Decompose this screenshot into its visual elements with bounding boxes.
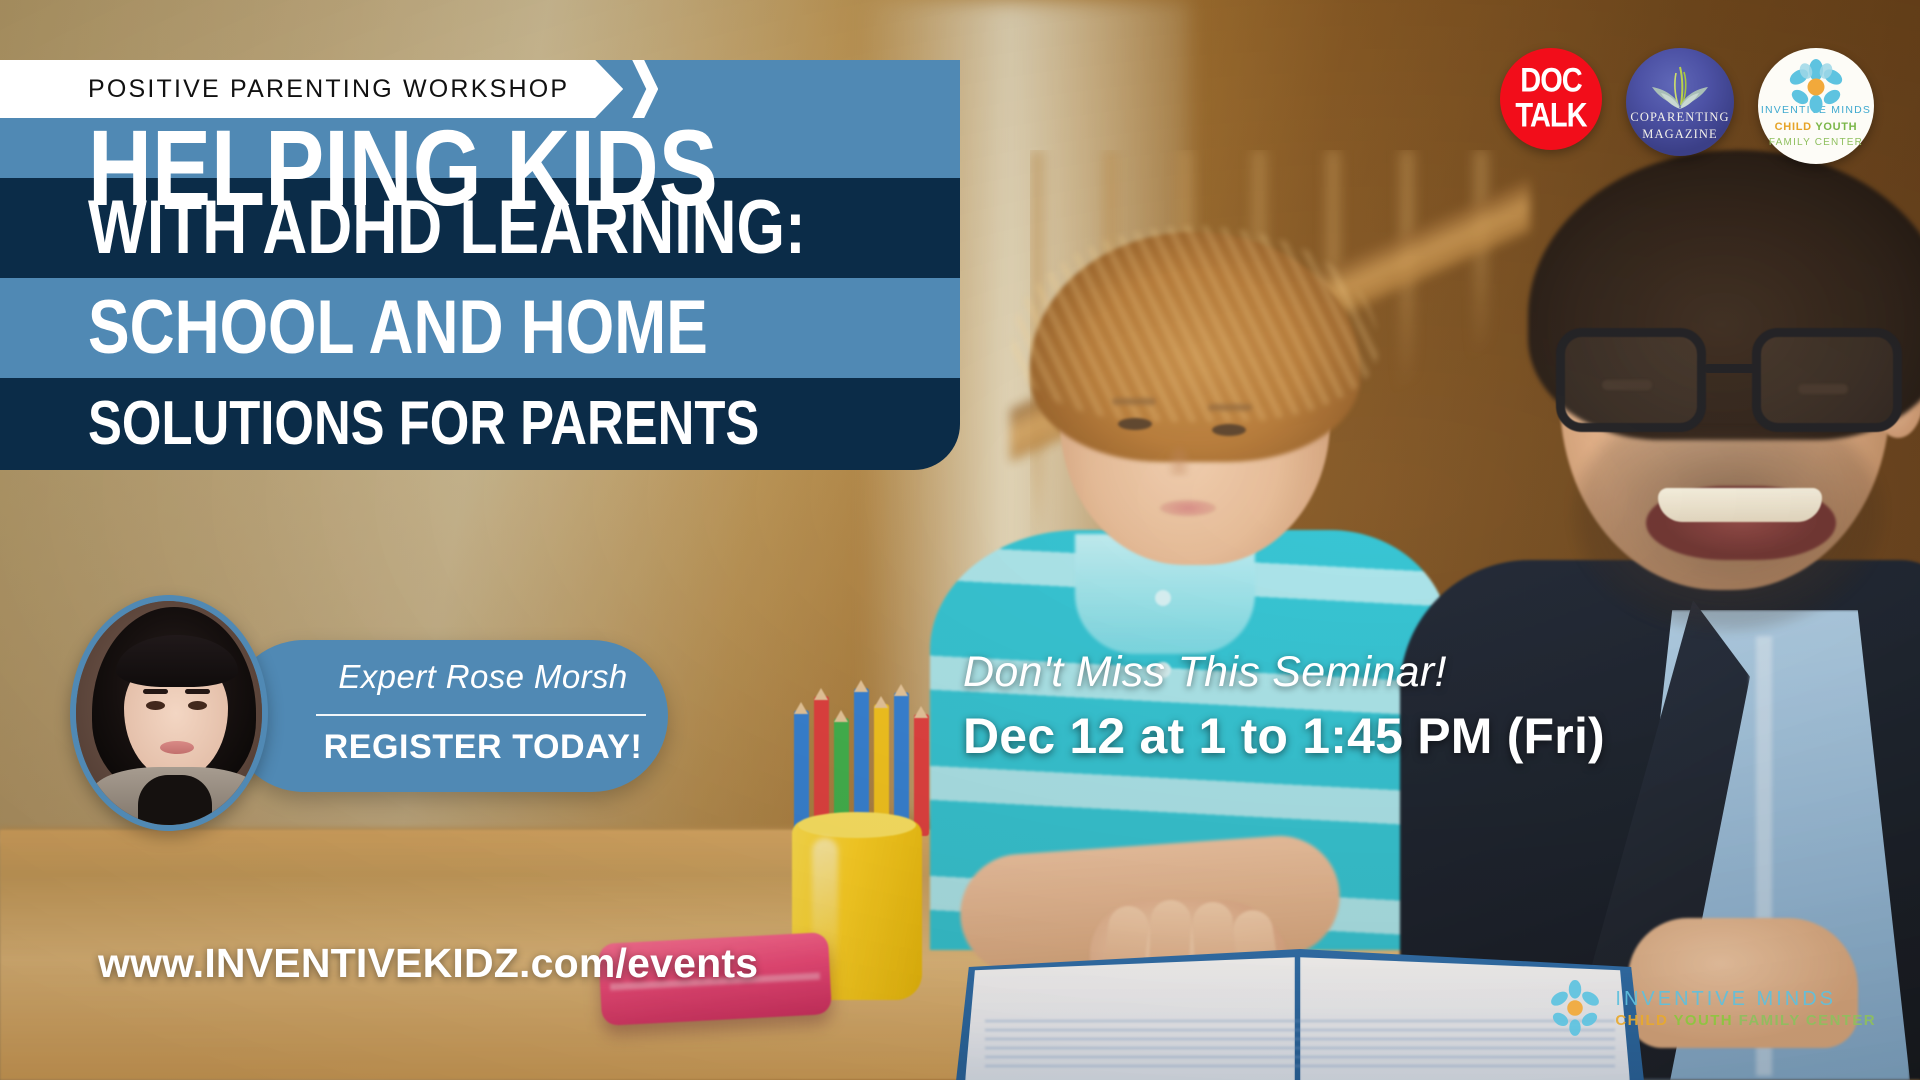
- avatar-lips: [160, 741, 194, 754]
- watermark-youth: YOUTH: [1674, 1012, 1734, 1029]
- avatar-eyebrow: [185, 689, 210, 694]
- watermark-child: CHILD: [1615, 1012, 1668, 1029]
- avatar-eye: [188, 701, 207, 710]
- doc-talk-line2: TALK: [1515, 100, 1586, 133]
- title-line-4-text: SOLUTIONS FOR PARENTS: [88, 393, 759, 455]
- eyebrow-ribbon: POSITIVE PARENTING WORKSHOP: [0, 60, 658, 118]
- seminar-info: Don't Miss This Seminar! Dec 12 at 1 to …: [963, 648, 1605, 765]
- inventive-minds-logo: INVENTIVE MINDS CHILD YOUTH FAMILY CENTE…: [1758, 48, 1874, 164]
- chevron-right-icon: [632, 60, 658, 118]
- partner-logos: DOC TALK COPARENTING MAGAZINE: [1500, 48, 1874, 164]
- inventive-minds-line2: CHILD YOUTH: [1775, 119, 1858, 136]
- speaker-name: Expert Rose Morsh: [318, 658, 648, 696]
- register-cta-pill[interactable]: Expert Rose Morsh REGISTER TODAY!: [228, 640, 668, 792]
- title-block: HELPING KIDS WITH ADHD LEARNING: SCHOOL …: [0, 60, 960, 470]
- avatar-eye: [146, 701, 165, 710]
- title-line-3: SCHOOL AND HOME: [0, 278, 960, 378]
- avatar: [70, 595, 268, 831]
- inventive-minds-child: CHILD: [1775, 121, 1812, 133]
- doc-talk-line1: DOC: [1520, 65, 1581, 98]
- register-today-button[interactable]: REGISTER TODAY!: [318, 728, 648, 767]
- watermark-line2: CHILD YOUTH FAMILY CENTER: [1615, 1012, 1876, 1030]
- watermark-text: INVENTIVE MINDS CHILD YOUTH FAMILY CENTE…: [1615, 988, 1876, 1029]
- title-line-2-text: WITH ADHD LEARNING:: [88, 190, 806, 266]
- watermark-line1: INVENTIVE MINDS: [1615, 988, 1876, 1012]
- coparenting-line2: MAGAZINE: [1642, 126, 1717, 143]
- watermark-family-center: FAMILY CENTER: [1739, 1012, 1876, 1029]
- avatar-eyebrow: [143, 689, 168, 694]
- seminar-subtitle: Don't Miss This Seminar!: [963, 648, 1605, 697]
- eyebrow-text: POSITIVE PARENTING WORKSHOP: [88, 75, 569, 104]
- inventive-minds-youth: YOUTH: [1815, 121, 1857, 133]
- website-url[interactable]: www.INVENTIVEKIDZ.com/events: [98, 940, 758, 987]
- title-line-3-text: SCHOOL AND HOME: [88, 290, 708, 366]
- inventive-minds-watermark: INVENTIVE MINDS CHILD YOUTH FAMILY CENTE…: [1546, 980, 1876, 1038]
- eyebrow-plate: POSITIVE PARENTING WORKSHOP: [0, 60, 623, 118]
- doc-talk-logo: DOC TALK: [1500, 48, 1602, 150]
- cta-divider: [316, 714, 646, 716]
- seminar-datetime: Dec 12 at 1 to 1:45 PM (Fri): [963, 707, 1605, 765]
- inventive-minds-line3: FAMILY CENTER: [1769, 135, 1863, 150]
- flower-icon: [1758, 59, 1874, 115]
- event-poster: HELPING KIDS WITH ADHD LEARNING: SCHOOL …: [0, 0, 1920, 1080]
- avatar-top: [138, 775, 212, 831]
- title-line-2: WITH ADHD LEARNING:: [0, 178, 960, 278]
- coparenting-magazine-logo: COPARENTING MAGAZINE: [1626, 48, 1734, 156]
- title-line-4: SOLUTIONS FOR PARENTS: [0, 378, 960, 470]
- flower-icon: [1546, 980, 1604, 1038]
- plant-sprout-icon: [1626, 63, 1734, 113]
